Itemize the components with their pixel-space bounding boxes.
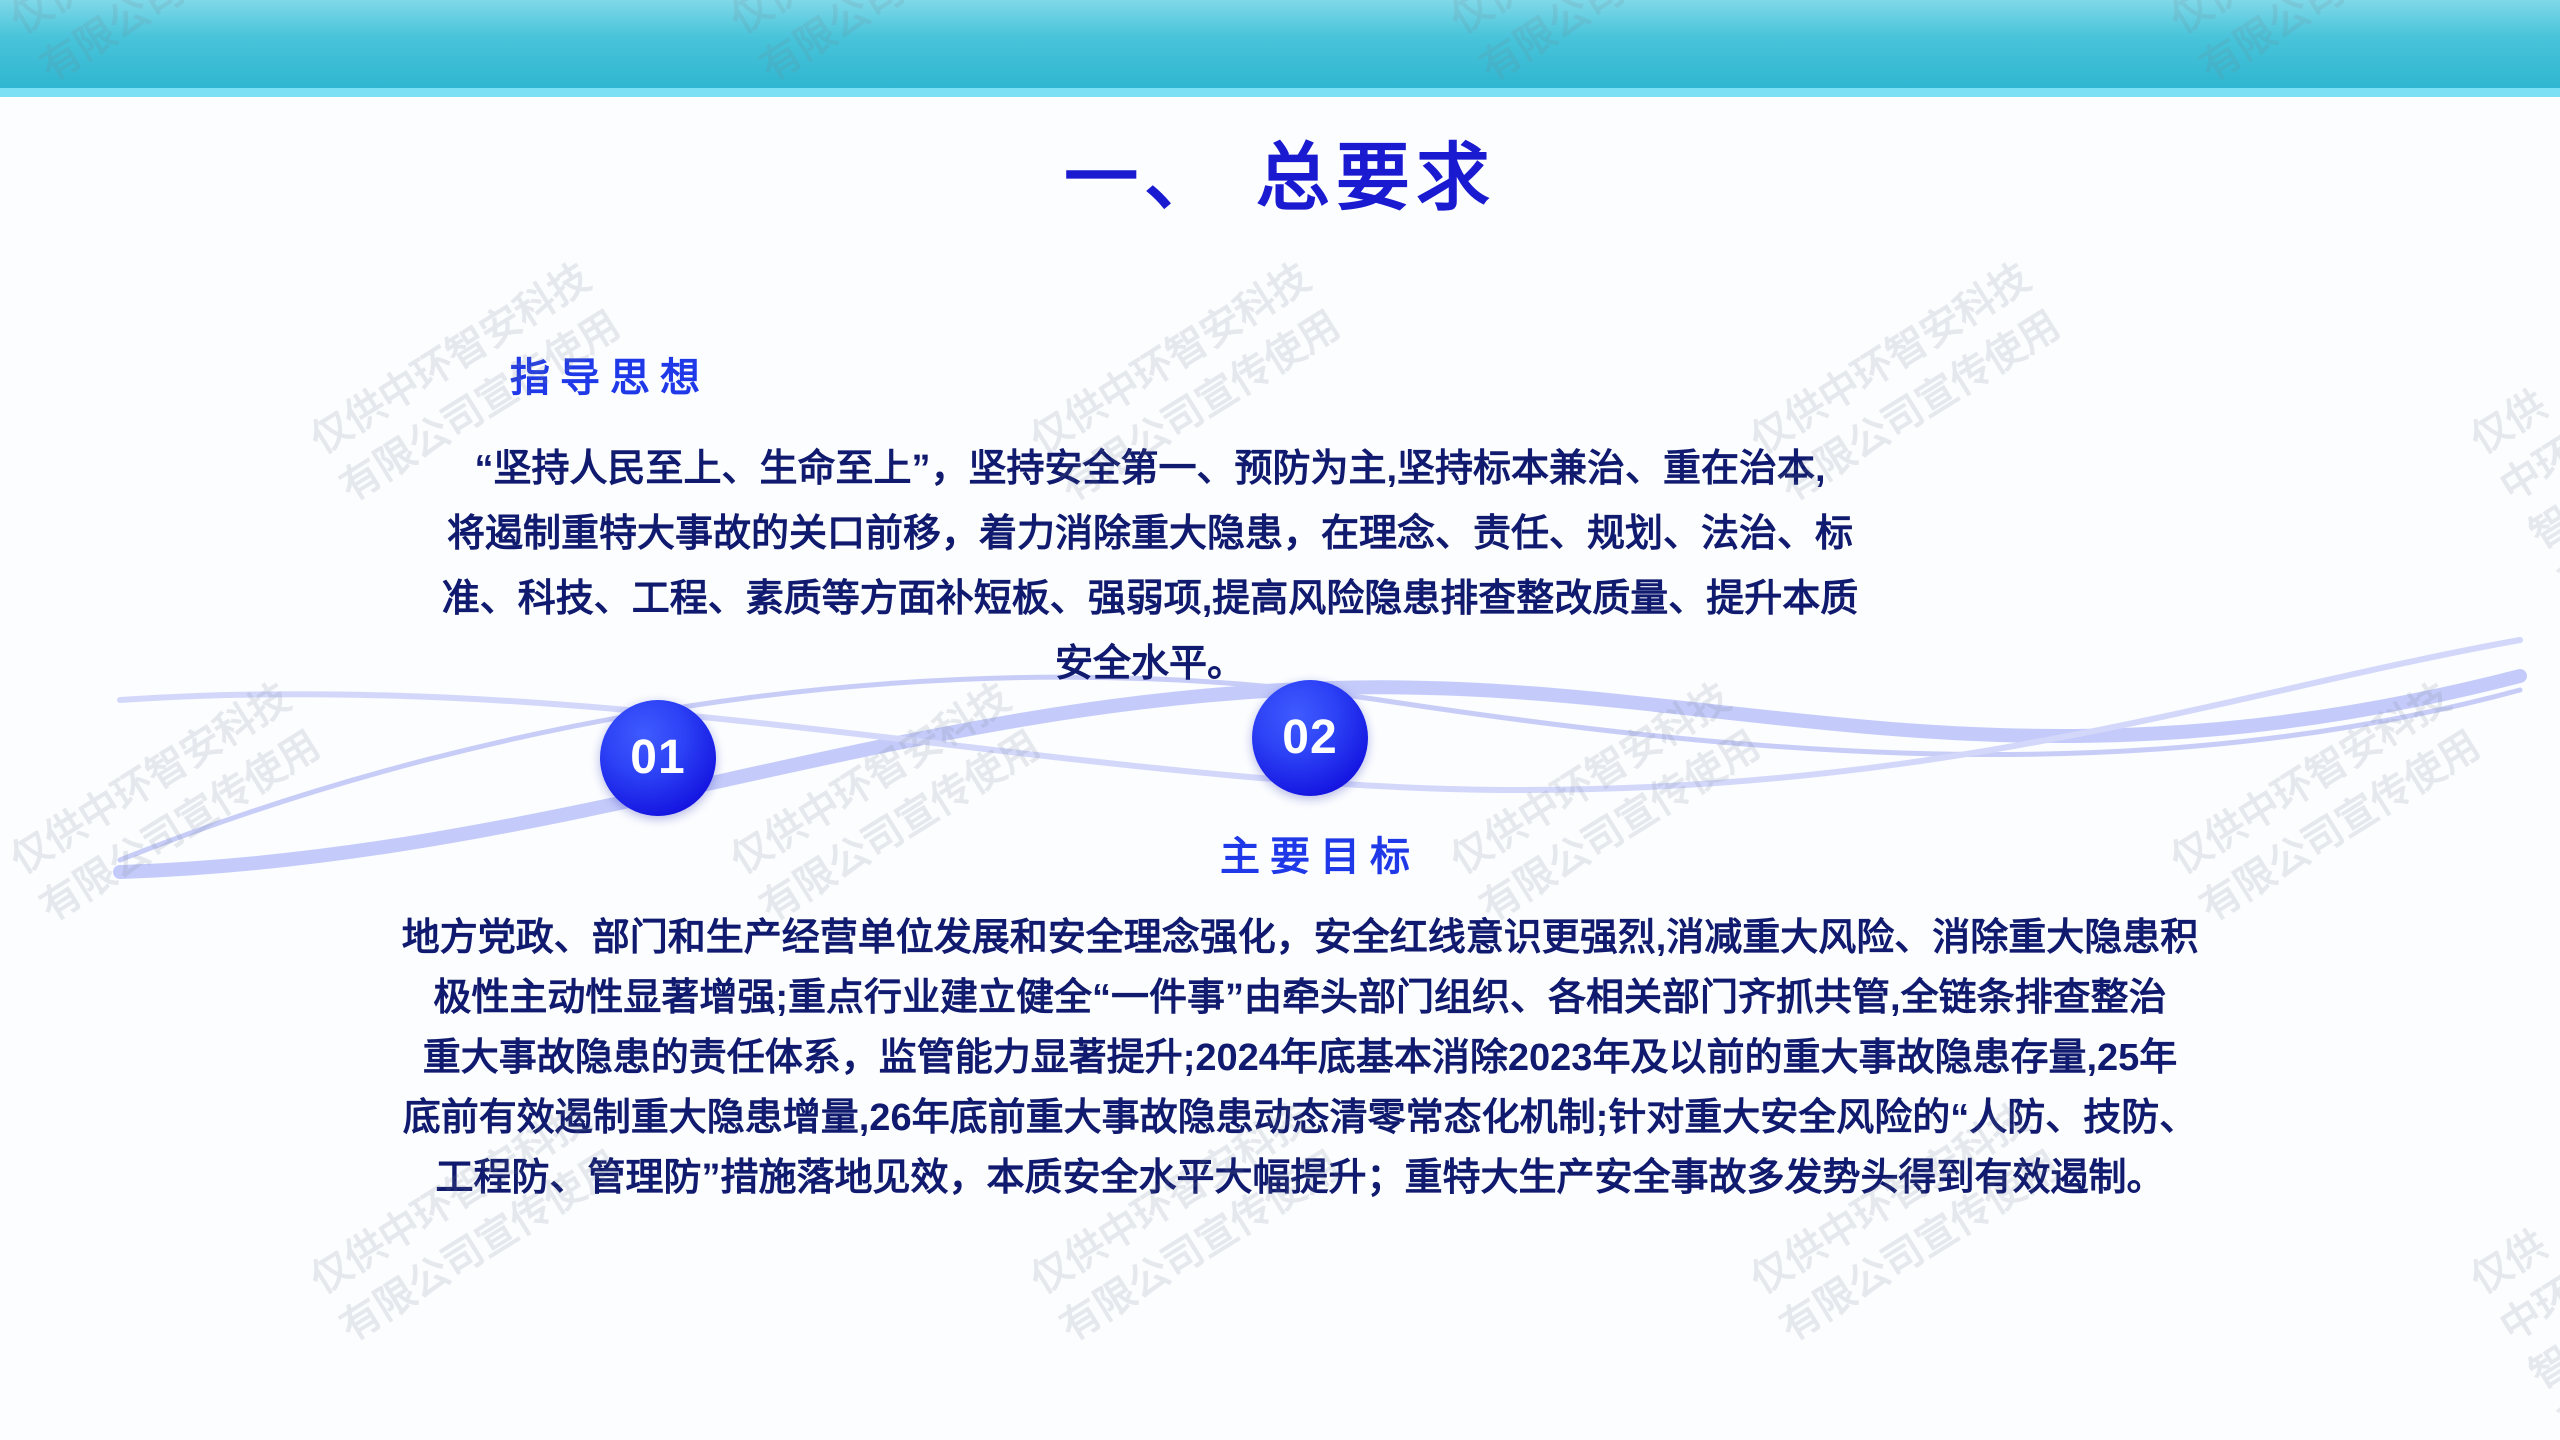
slide-root: 一、 总要求 指导思想 “坚持人民至上、生命至上”，坚持安全第一、预防为主,坚持… xyxy=(0,0,2560,1440)
watermark-text: 仅供中环智安科技 有限公司宣传使用 xyxy=(720,670,1051,935)
section-heading-guiding-thought: 指导思想 xyxy=(330,345,890,403)
step-badge-02-label: 02 xyxy=(1282,714,1337,762)
step-badge-02[interactable]: 02 xyxy=(1252,680,1368,796)
watermark-text: 仅供中环智安科技 有限公司宣传使用 xyxy=(2160,670,2491,935)
watermark-text: 仅供中环智安科技 有限公司宣传使用 xyxy=(2460,1207,2560,1440)
watermark-text: 仅供中环智安科技 有限公司宣传使用 xyxy=(0,670,331,935)
top-banner xyxy=(0,0,2560,88)
page-title: 一、 总要求 xyxy=(0,118,2560,225)
watermark-text: 仅供中环智安科技 有限公司宣传使用 xyxy=(2460,367,2560,800)
watermark-text: 仅供中环智安科技 有限公司宣传使用 xyxy=(1440,670,1771,935)
step-badge-01-label: 01 xyxy=(630,734,685,782)
banner-underline xyxy=(0,88,2560,97)
section-body-guiding-thought: “坚持人民至上、生命至上”，坚持安全第一、预防为主,坚持标本兼治、重在治本, 将… xyxy=(330,437,1970,697)
section-body-main-goals: 地方党政、部门和生产经营单位发展和安全理念强化，安全红线意识更强烈,消减重大风险… xyxy=(255,908,2345,1208)
section-heading-main-goals: 主要目标 xyxy=(1010,824,1630,882)
step-badge-01[interactable]: 01 xyxy=(600,700,716,816)
